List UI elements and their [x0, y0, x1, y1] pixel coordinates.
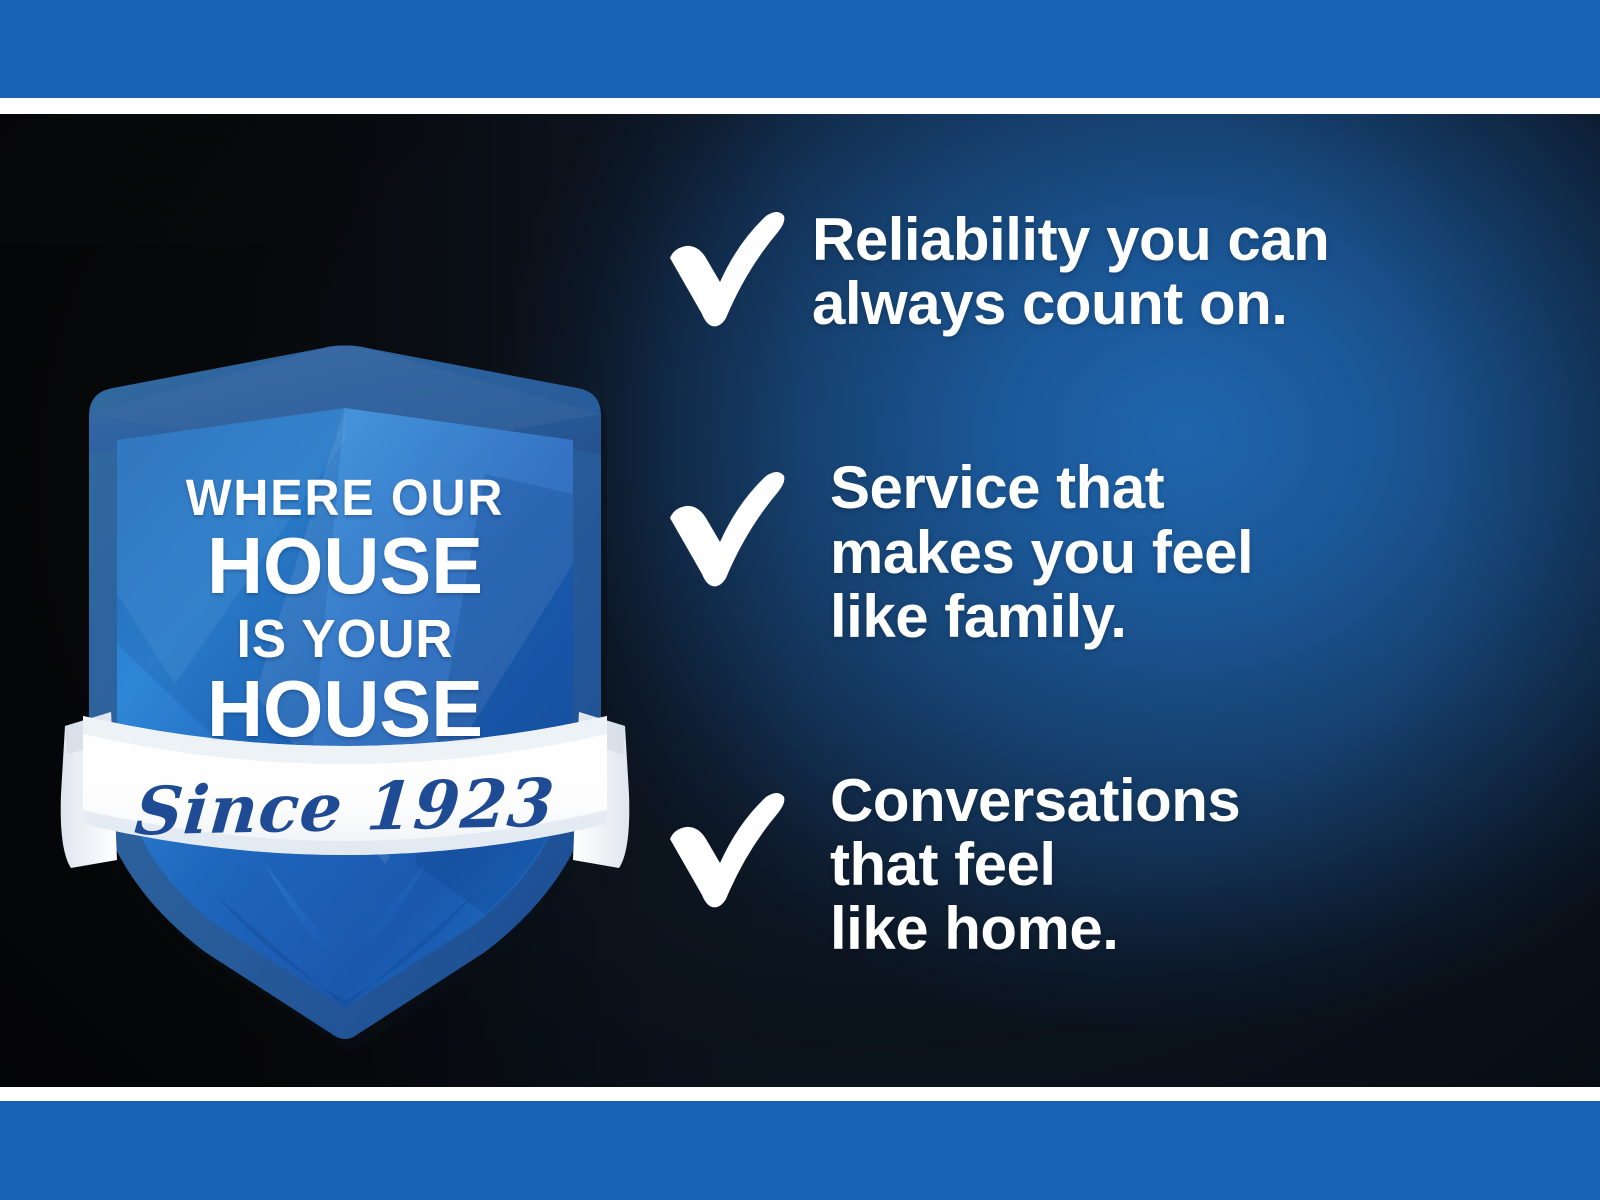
benefits-list: Reliability you can always count on. Ser… — [660, 200, 1560, 962]
main-stage: Where Our House Is Your House Since 1923… — [0, 114, 1600, 1087]
benefit-item: Reliability you can always count on. — [660, 200, 1560, 336]
bottom-divider-strip — [0, 1087, 1600, 1101]
benefit-item: Service that makes you feel like family. — [660, 448, 1560, 649]
benefit-text: Reliability you can always count on. — [802, 200, 1329, 336]
checkmark-icon — [660, 783, 788, 911]
benefit-text: Conversations that feel like home. — [802, 761, 1240, 962]
shield-line-4: House — [64, 669, 627, 749]
benefit-text: Service that makes you feel like family. — [802, 448, 1253, 649]
shield-line-3: Is Your — [70, 612, 621, 666]
benefit-item: Conversations that feel like home. — [660, 761, 1560, 962]
top-divider-strip — [0, 98, 1600, 114]
top-brand-bar — [0, 0, 1600, 98]
checkmark-icon — [660, 462, 788, 590]
checkmark-icon — [660, 202, 788, 330]
shield-line-1: Where Our — [70, 472, 621, 523]
promo-graphic: Where Our House Is Your House Since 1923… — [0, 0, 1600, 1200]
bottom-brand-bar — [0, 1101, 1600, 1200]
banner-since-text: Since 1923 — [52, 762, 638, 852]
shield-emblem: Where Our House Is Your House Since 1923 — [55, 264, 635, 1054]
shield-line-2: House — [64, 526, 627, 606]
